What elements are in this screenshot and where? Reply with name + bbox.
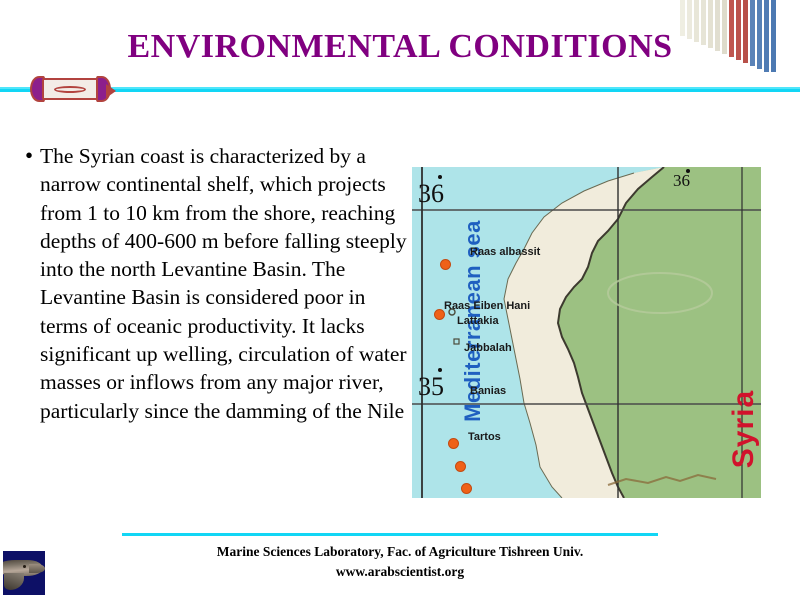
map-station-dot xyxy=(455,461,466,472)
scroll-oval-icon xyxy=(54,86,86,93)
map-station-dot xyxy=(448,438,459,449)
map-lat-label-36-right: 36 xyxy=(673,171,690,191)
footer-line-2[interactable]: www.arabscientist.org xyxy=(90,562,710,582)
map-lat-tick-icon xyxy=(438,368,442,372)
map-city-label-raas-eiben-hani: Raas Eiben Hani xyxy=(444,300,530,312)
title-divider xyxy=(0,87,800,92)
content-text-block: • The Syrian coast is characterized by a… xyxy=(18,142,410,425)
map-town-marker xyxy=(454,339,459,344)
bullet-paragraph: The Syrian coast is characterized by a n… xyxy=(40,142,410,425)
map-lat-label-36-left: 36 xyxy=(418,179,444,209)
page-title: ENVIRONMENTAL CONDITIONS xyxy=(0,28,800,66)
footer-line-1: Marine Sciences Laboratory, Fac. of Agri… xyxy=(90,542,710,562)
scroll-ornament-icon xyxy=(28,74,114,104)
map-lat-label-35-left: 35 xyxy=(418,372,444,402)
footer-credit: Marine Sciences Laboratory, Fac. of Agri… xyxy=(90,542,710,582)
map-city-label-banias: Banias xyxy=(470,385,506,397)
map-station-dot xyxy=(440,259,451,270)
map-country-label: Syria xyxy=(727,344,761,498)
map-city-label-jabbalah: Jabbalah xyxy=(464,342,512,354)
map-city-label-raas-albassit: Raas albassit xyxy=(470,246,540,258)
map-station-dot xyxy=(461,483,472,494)
slide-canvas: ENVIRONMENTAL CONDITIONS • The Syrian co… xyxy=(0,0,800,600)
map-lat-tick-icon xyxy=(438,175,442,179)
map-city-label-lattakia: Lattakia xyxy=(457,315,499,327)
map-station-dot xyxy=(434,309,445,320)
map-city-label-tartos: Tartos xyxy=(468,431,501,443)
syrian-coast-map: 36 35 36 Mediterranean sea Syria Raas al… xyxy=(412,167,761,498)
fish-logo-icon xyxy=(3,551,45,595)
bullet-item: • The Syrian coast is characterized by a… xyxy=(18,142,410,425)
scroll-tail-icon xyxy=(106,84,116,98)
footer-divider xyxy=(122,533,658,536)
bullet-marker: • xyxy=(18,142,40,170)
map-lat-tick-icon xyxy=(686,169,690,173)
